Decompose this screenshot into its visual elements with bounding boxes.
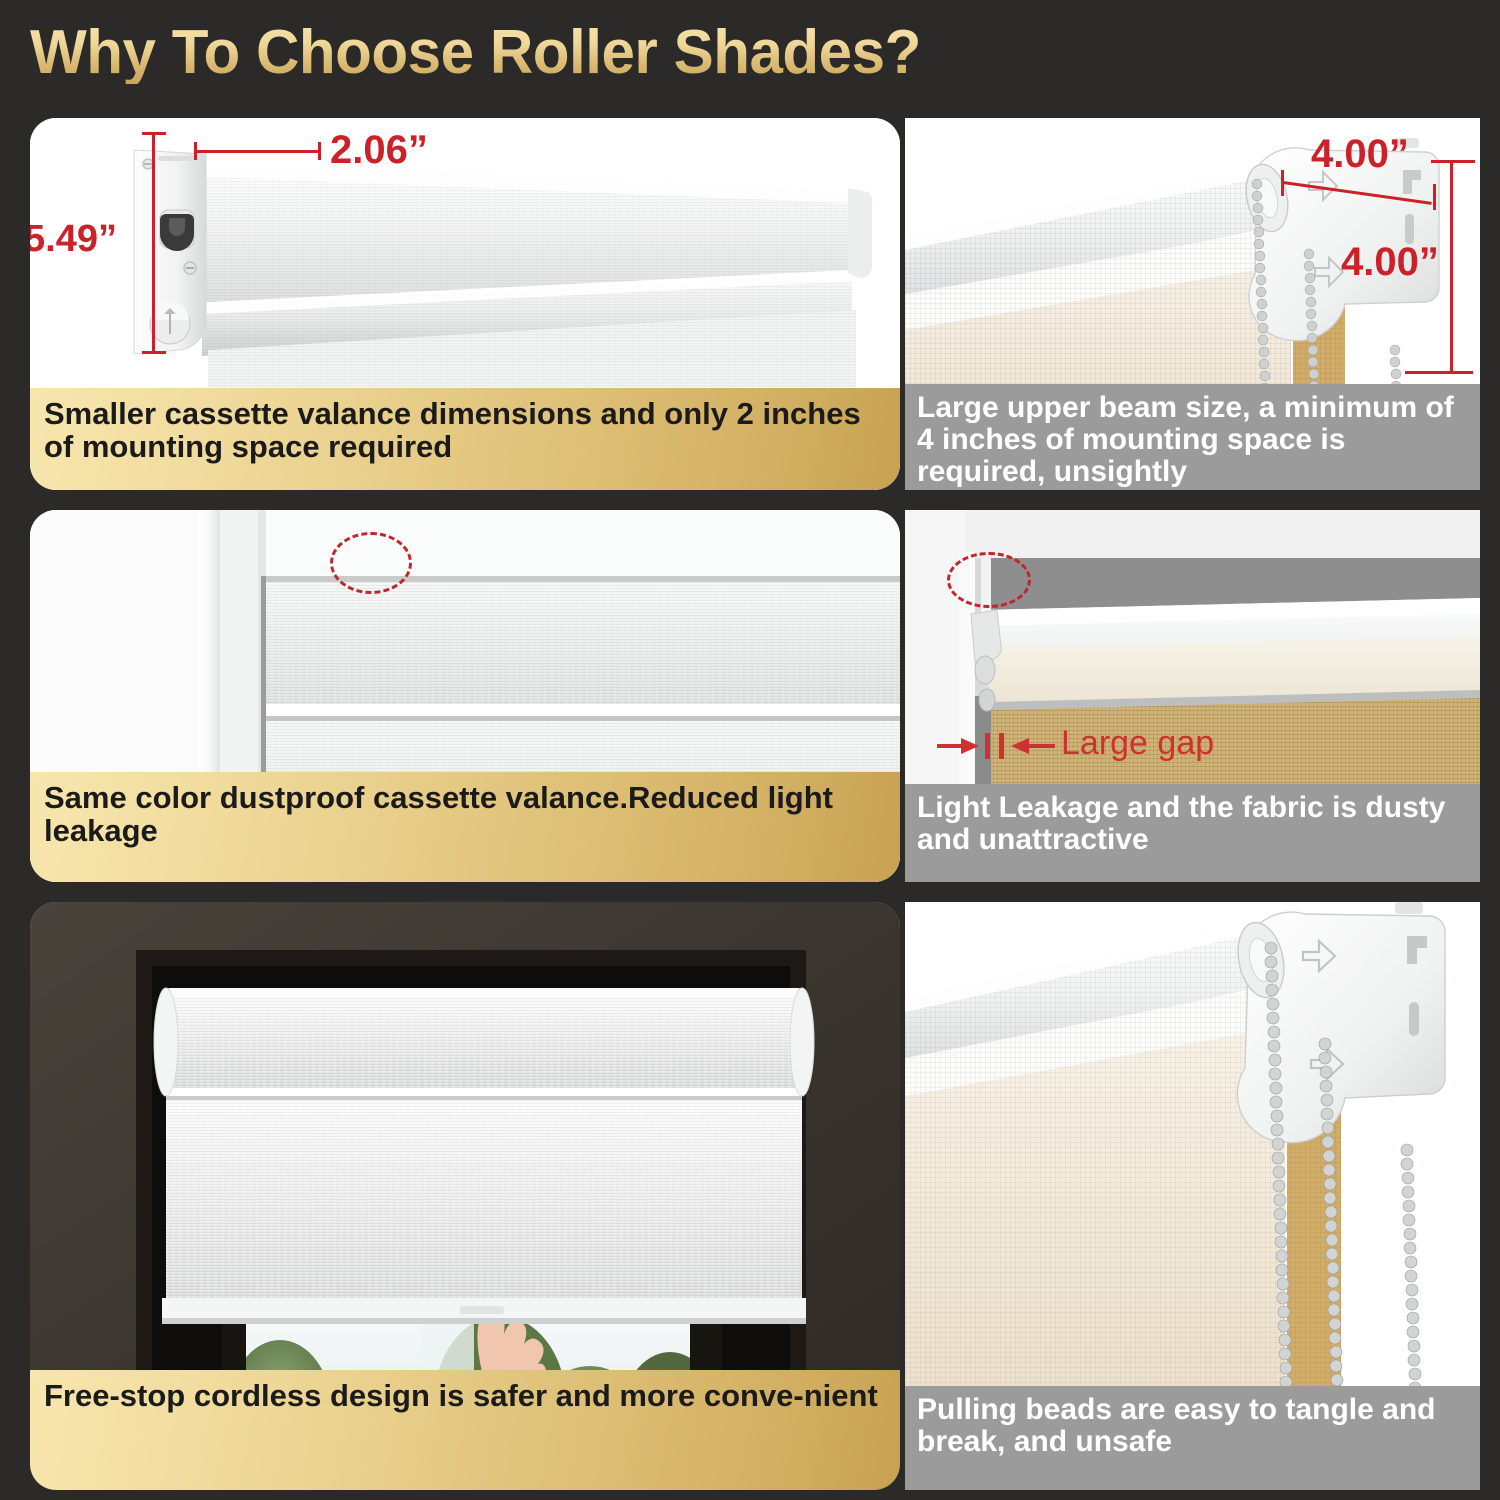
beam-dim-height-tick-top [1431,160,1475,163]
caption-pro-gap: Same color dustproof cassette valance.Re… [30,772,900,882]
dim-height-tick-top [142,132,166,135]
beam-dim-width-tick-left [1281,170,1284,196]
panel-con-gap: Large gap Light Leakage and the fabric i… [905,510,1480,882]
infographic-page: Why To Choose Roller Shades? [0,0,1500,1500]
dim-height-label: 5.49” [30,218,117,261]
gap-highlight-circle [330,532,412,594]
panel-pro-gap: smaller gap Same color dustproof cassett… [30,510,900,882]
panel-grid: 2.06” 5.49” Smaller cassette valance dim… [0,118,1500,1498]
large-gap-highlight-circle [947,552,1031,608]
large-gap-label: Large gap [1061,724,1214,763]
caption-con-beads: Pulling beads are easy to tangle and bre… [905,1386,1480,1490]
caption-pro-cordless: Free-stop cordless design is safer and m… [30,1370,900,1490]
beam-dim-height-line [1450,160,1453,374]
large-gap-arrows [935,728,1057,764]
caption-con-beam: Large upper beam size, a minimum of 4 in… [905,384,1480,490]
dim-width-tick-right [318,142,321,160]
panel-con-beam: 4.00” 4.00” Large upper beam size, a min… [905,118,1480,490]
caption-con-gap: Light Leakage and the fabric is dusty an… [905,784,1480,882]
panel-pro-cassette: 2.06” 5.49” Smaller cassette valance dim… [30,118,900,490]
caption-pro-cassette: Smaller cassette valance dimensions and … [30,388,900,490]
beam-dim-height-label: 4.00” [1341,240,1439,285]
beam-dim-width-label: 4.00” [1311,132,1409,177]
page-title: Why To Choose Roller Shades? [30,22,921,84]
dim-width-label: 2.06” [330,128,428,173]
beam-dim-height-tick-bottom [1405,371,1473,374]
beam-dim-width-tick-right [1433,184,1436,210]
dim-height-tick-bottom [142,351,166,354]
panel-con-beads: Pulling beads are easy to tangle and bre… [905,902,1480,1490]
dim-width-line [194,150,320,153]
dim-height-line [152,132,155,354]
dim-width-tick-left [194,142,197,160]
panel-pro-cordless: Free-stop cordless design is safer and m… [30,902,900,1490]
